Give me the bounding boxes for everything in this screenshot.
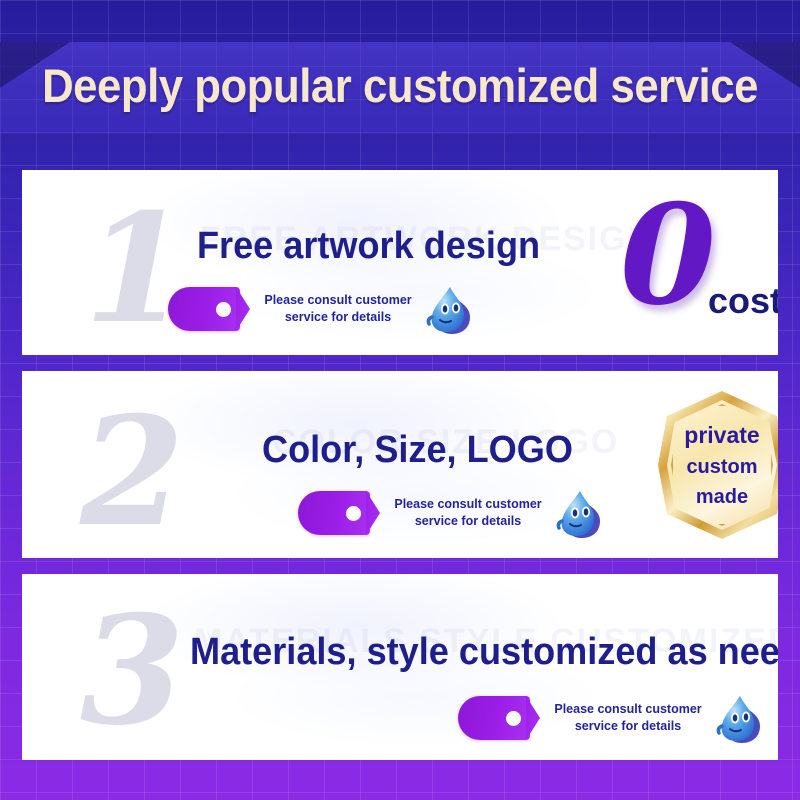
consult-text: Please consult customer service for deta…	[248, 292, 428, 326]
zero-cost-group: 0 cost	[620, 196, 778, 336]
zero-glyph: 0	[620, 186, 716, 324]
card-index-number: 2	[80, 397, 184, 547]
tag-shape-icon	[458, 696, 530, 740]
card-headline: Free artwork design	[197, 225, 540, 268]
water-drop-mascot-icon	[716, 690, 772, 746]
water-drop-mascot-icon	[426, 281, 482, 337]
feature-card-3: MATERIALS STYLE CUSTOMIZED 3 Materials, …	[22, 574, 778, 760]
card-headline: Color, Size, LOGO	[262, 429, 573, 472]
badge-text-group: private custom made	[658, 391, 778, 539]
tag-shape-icon	[168, 287, 240, 331]
consult-tag-group[interactable]: Please consult customer service for deta…	[168, 286, 482, 332]
promo-banner: Deeply popular customized service FREE A…	[0, 0, 800, 800]
consult-tag-group[interactable]: Please consult customer service for deta…	[458, 695, 772, 741]
card-index-number: 3	[80, 596, 184, 746]
tag-shape-icon	[298, 491, 370, 535]
private-custom-made-badge: private custom made	[658, 391, 778, 539]
consult-tag-group[interactable]: Please consult customer service for deta…	[298, 490, 612, 536]
consult-text: Please consult customer service for deta…	[378, 496, 558, 530]
badge-line-private: private	[684, 422, 759, 449]
card-headline: Materials, style customized as needed	[190, 631, 778, 674]
page-title: Deeply popular customized service	[28, 58, 772, 113]
consult-text: Please consult customer service for deta…	[538, 701, 718, 735]
feature-card-2: COLOR SIZE LOGO 2 Color, Size, LOGO Plea…	[22, 371, 778, 558]
water-drop-mascot-icon	[556, 485, 612, 541]
badge-line-made: made	[696, 486, 748, 509]
cost-label: cost	[708, 280, 778, 322]
feature-card-1: FREE ARTWORK DESIGN 1 Free artwork desig…	[22, 170, 778, 355]
badge-line-custom: custom	[686, 456, 757, 479]
